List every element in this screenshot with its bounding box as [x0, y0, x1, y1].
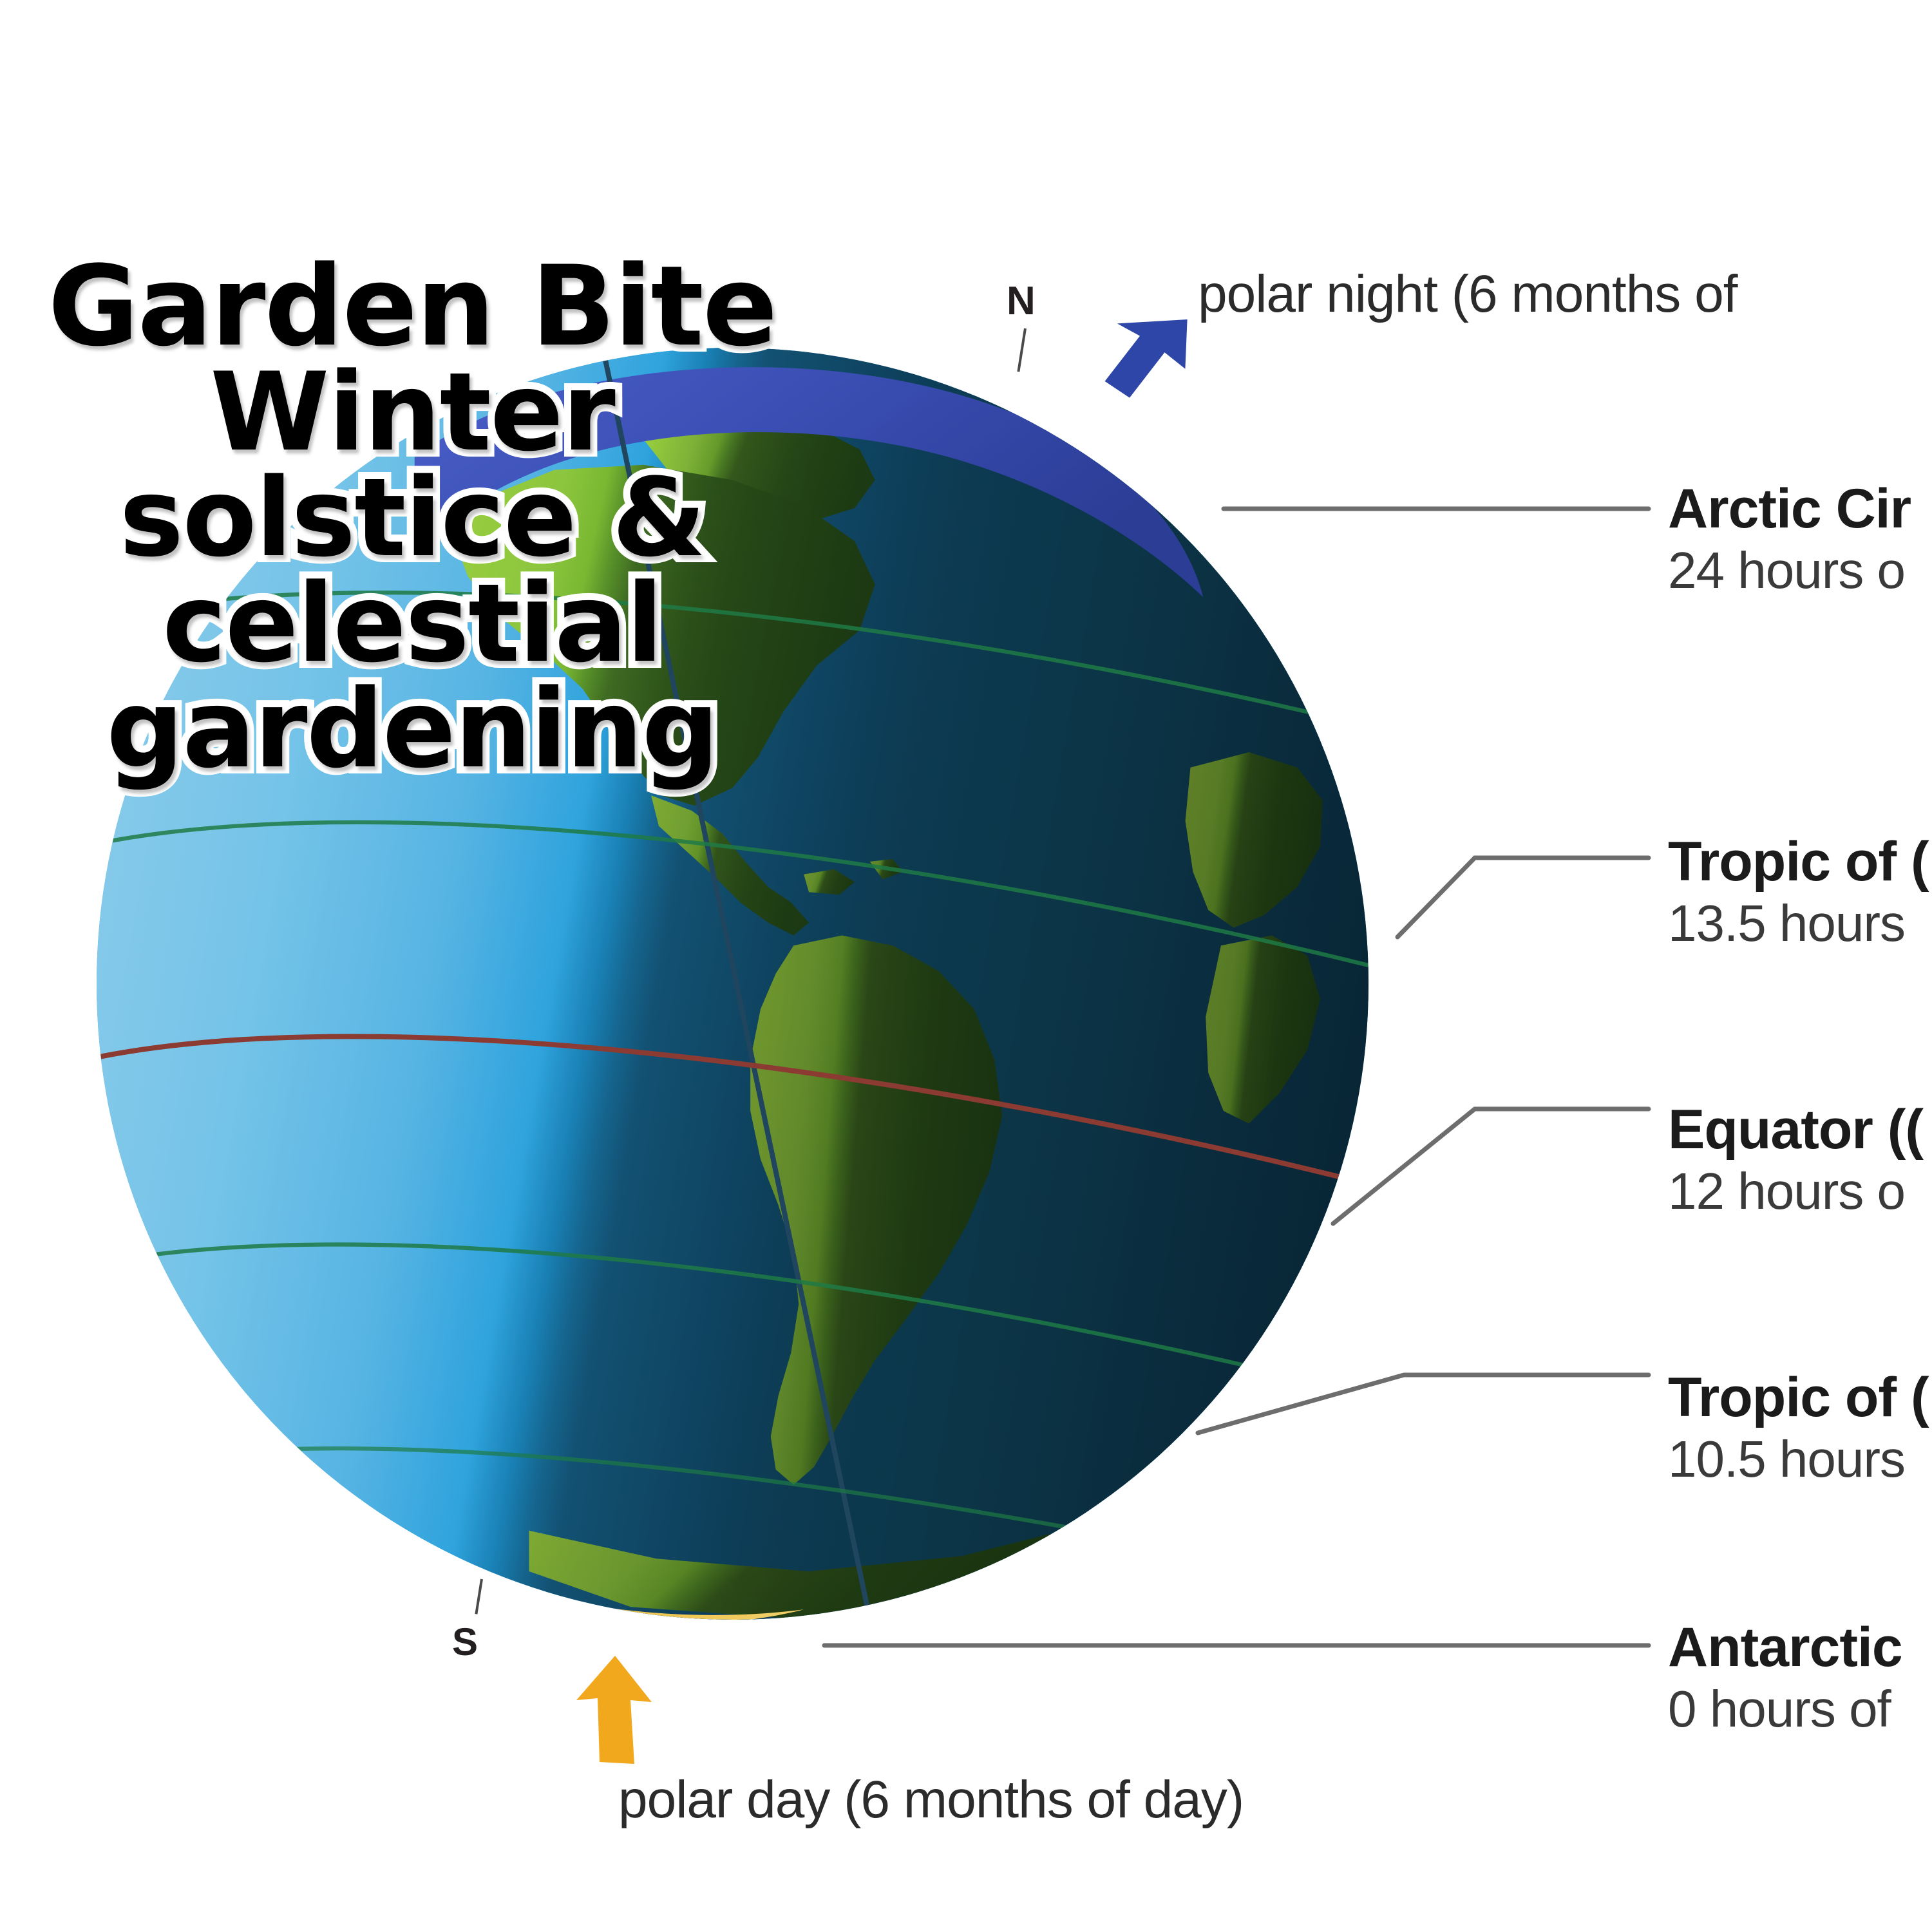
label-tropic-of-capricorn-hours: 10.5 hours [1668, 1428, 1932, 1490]
label-equator-hours: 12 hours o [1668, 1160, 1932, 1222]
label-arctic-circle: Arctic Cir 24 hours o [1668, 478, 1932, 601]
title-line-5: gardening [0, 680, 824, 778]
polar-day-caption: polar day (6 months of day) [618, 1770, 1244, 1830]
leader-equator [1333, 1109, 1649, 1224]
polar-night-arrow-icon [1088, 309, 1191, 412]
label-tropic-of-cancer-hours: 13.5 hours [1668, 893, 1932, 954]
title-line-3: solstice & [0, 469, 824, 567]
label-tropic-of-capricorn: Tropic of ( 10.5 hours [1668, 1367, 1932, 1490]
title-line-1: Garden Bite [0, 258, 824, 355]
title-overlay: Garden Bite Winter solstice & celestial … [0, 258, 824, 786]
label-arctic-circle-hours: 24 hours o [1668, 540, 1932, 601]
south-pole-label: S [452, 1620, 478, 1664]
label-equator-title: Equator (( [1668, 1099, 1932, 1160]
title-line-2: Winter [0, 363, 824, 461]
label-equator: Equator (( 12 hours o [1668, 1099, 1932, 1222]
polar-night-caption: polar night (6 months of [1198, 264, 1737, 325]
label-arctic-circle-title: Arctic Cir [1668, 478, 1932, 540]
solstice-diagram-page: N S polar night (6 months of polar day (… [0, 0, 1932, 1932]
title-line-4: celestial [0, 574, 824, 672]
label-tropic-of-cancer-title: Tropic of ( [1668, 831, 1932, 893]
label-tropic-of-cancer: Tropic of ( 13.5 hours [1668, 831, 1932, 954]
north-pole-label: N [1007, 278, 1036, 324]
label-tropic-of-capricorn-title: Tropic of ( [1668, 1367, 1932, 1428]
label-antarctic-circle-title: Antarctic [1668, 1616, 1932, 1678]
label-antarctic-circle-hours: 0 hours of [1668, 1678, 1932, 1740]
polar-day-arrow-icon [567, 1649, 663, 1771]
leader-cancer [1397, 858, 1649, 937]
label-antarctic-circle: Antarctic 0 hours of [1668, 1616, 1932, 1740]
